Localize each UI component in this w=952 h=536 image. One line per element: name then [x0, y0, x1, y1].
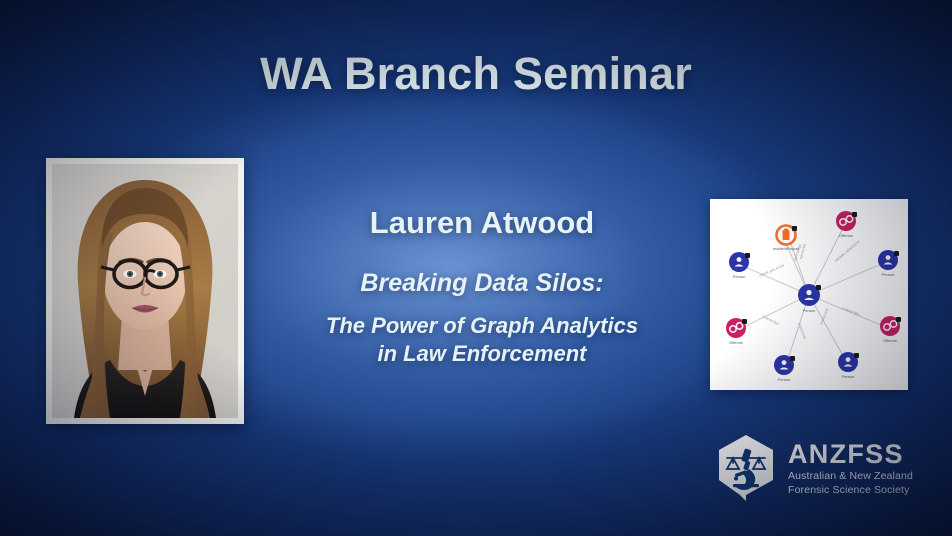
svg-text:Offence: Offence: [839, 233, 854, 238]
talk-subtitle-line-1: The Power of Graph Analytics: [276, 312, 688, 340]
anzfss-logo: ANZFSS Australian & New Zealand Forensic…: [713, 432, 923, 504]
graph-node-person-bottom-right[interactable]: Person: [838, 352, 859, 379]
anzfss-logo-text: ANZFSS Australian & New Zealand Forensic…: [788, 441, 913, 495]
talk-details: Lauren Atwood Breaking Data Silos: The P…: [276, 206, 688, 369]
graph-node-center-person[interactable]: Person: [798, 284, 821, 313]
svg-text:CONVICTED: CONVICTED: [762, 314, 781, 326]
svg-text:PRIOR_RELATION: PRIOR_RELATION: [759, 263, 785, 278]
speaker-photo: [52, 164, 238, 418]
svg-text:IncidentReport: IncidentReport: [773, 246, 800, 251]
speaker-photo-frame: [46, 158, 244, 424]
anzfss-tagline-line-2: Forensic Science Society: [788, 485, 913, 496]
talk-subtitle-line-2: in Law Enforcement: [276, 340, 688, 368]
talk-title: Breaking Data Silos:: [276, 267, 688, 301]
svg-text:Offence: Offence: [883, 338, 898, 343]
graph-node-incident-report[interactable]: IncidentReport: [773, 226, 800, 252]
graph-visualization-panel: PRIOR_RELATION REPORTED INVOLVED KNOWN_A…: [710, 199, 908, 390]
svg-text:Person: Person: [778, 377, 791, 382]
svg-text:Offence: Offence: [729, 340, 744, 345]
graph-node-person-right-top[interactable]: Person: [878, 250, 899, 277]
graph-node-person-left-top[interactable]: Person: [729, 252, 750, 279]
svg-text:ASSOCIATE: ASSOCIATE: [797, 322, 807, 340]
svg-text:CONVICTED: CONVICTED: [842, 306, 861, 317]
portrait-illustration: [52, 164, 238, 418]
svg-text:Person: Person: [882, 272, 895, 277]
seminar-slide: WA Branch Seminar: [0, 0, 952, 536]
svg-text:Person: Person: [803, 308, 816, 313]
graph-node-offence-top[interactable]: Offence: [836, 211, 857, 238]
network-graph: PRIOR_RELATION REPORTED INVOLVED KNOWN_A…: [710, 199, 908, 390]
anzfss-tagline-line-1: Australian & New Zealand: [788, 471, 913, 482]
svg-text:Person: Person: [733, 274, 746, 279]
page-title: WA Branch Seminar: [0, 48, 952, 100]
graph-node-person-bottom-left[interactable]: Person: [774, 355, 795, 382]
anzfss-hexagon-icon: [713, 433, 779, 503]
svg-text:Person: Person: [842, 374, 855, 379]
svg-text:KNOWN_ASSOCIATE: KNOWN_ASSOCIATE: [834, 240, 860, 263]
anzfss-acronym: ANZFSS: [788, 441, 913, 468]
speaker-name: Lauren Atwood: [276, 206, 688, 241]
graph-node-offence-left[interactable]: Offence: [726, 318, 747, 345]
graph-node-offence-right[interactable]: Offence: [880, 316, 901, 343]
